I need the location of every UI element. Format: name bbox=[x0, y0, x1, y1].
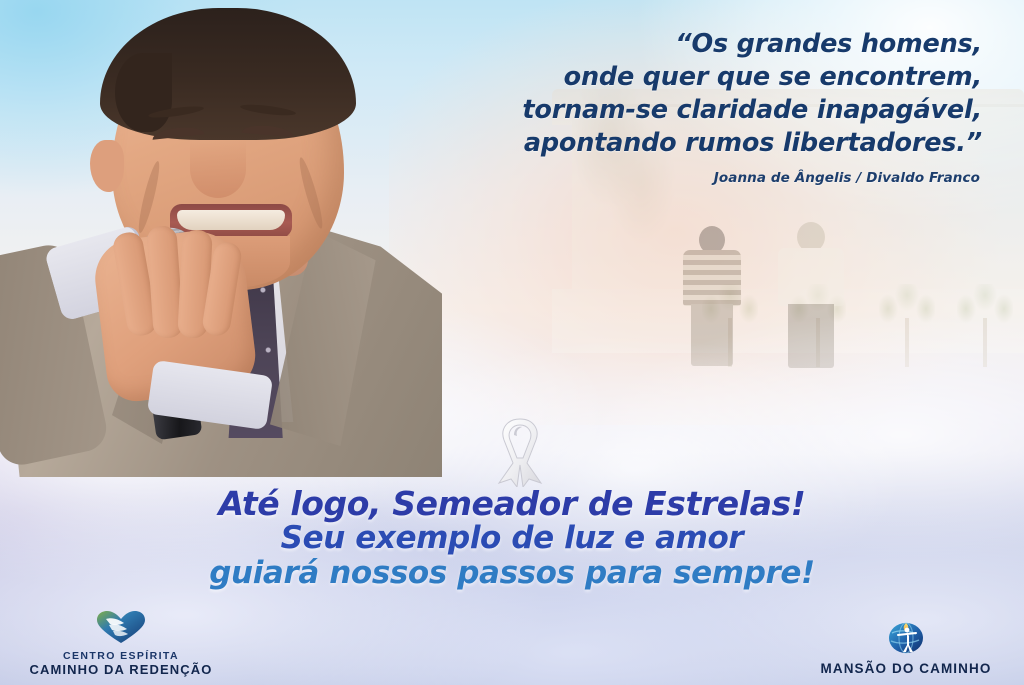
globe-figure-flame-icon bbox=[796, 615, 1016, 659]
headline-line-1: Até logo, Semeador de Estrelas! bbox=[0, 486, 1024, 521]
ear bbox=[90, 140, 124, 192]
headline-line-2: Seu exemplo de luz e amor bbox=[0, 521, 1024, 556]
quote-text: “Os grandes homens, onde quer que se enc… bbox=[342, 28, 982, 160]
quote-attribution: Joanna de Ângelis / Divaldo Franco bbox=[340, 170, 980, 186]
logo-mansao-do-caminho: MANSÃO DO CAMINHO bbox=[796, 615, 1016, 677]
headline-line-3: guiará nossos passos para sempre! bbox=[0, 556, 1024, 591]
quote-line-2: onde quer que se encontrem, bbox=[342, 61, 982, 94]
logo-right-line-1: MANSÃO DO CAMINHO bbox=[796, 661, 1016, 677]
headline-message: Até logo, Semeador de Estrelas! Seu exem… bbox=[0, 486, 1024, 591]
heart-hands-icon bbox=[6, 610, 236, 648]
quote-line-3: tornam-se claridade inapagável, bbox=[342, 94, 982, 127]
logo-centro-espirita: CENTRO ESPÍRITA CAMINHO DA REDENÇÃO bbox=[6, 610, 236, 677]
logo-left-line-1: CENTRO ESPÍRITA bbox=[6, 650, 236, 662]
memorial-poster: “Os grandes homens, onde quer que se enc… bbox=[0, 0, 1024, 685]
quote-line-4: apontando rumos libertadores.” bbox=[342, 127, 982, 160]
logo-left-line-2: CAMINHO DA REDENÇÃO bbox=[6, 662, 236, 677]
teeth bbox=[177, 210, 284, 230]
quote-line-1: “Os grandes homens, bbox=[342, 28, 982, 61]
mourning-ribbon-icon bbox=[487, 413, 553, 487]
nose bbox=[190, 140, 246, 198]
hair bbox=[100, 8, 356, 140]
